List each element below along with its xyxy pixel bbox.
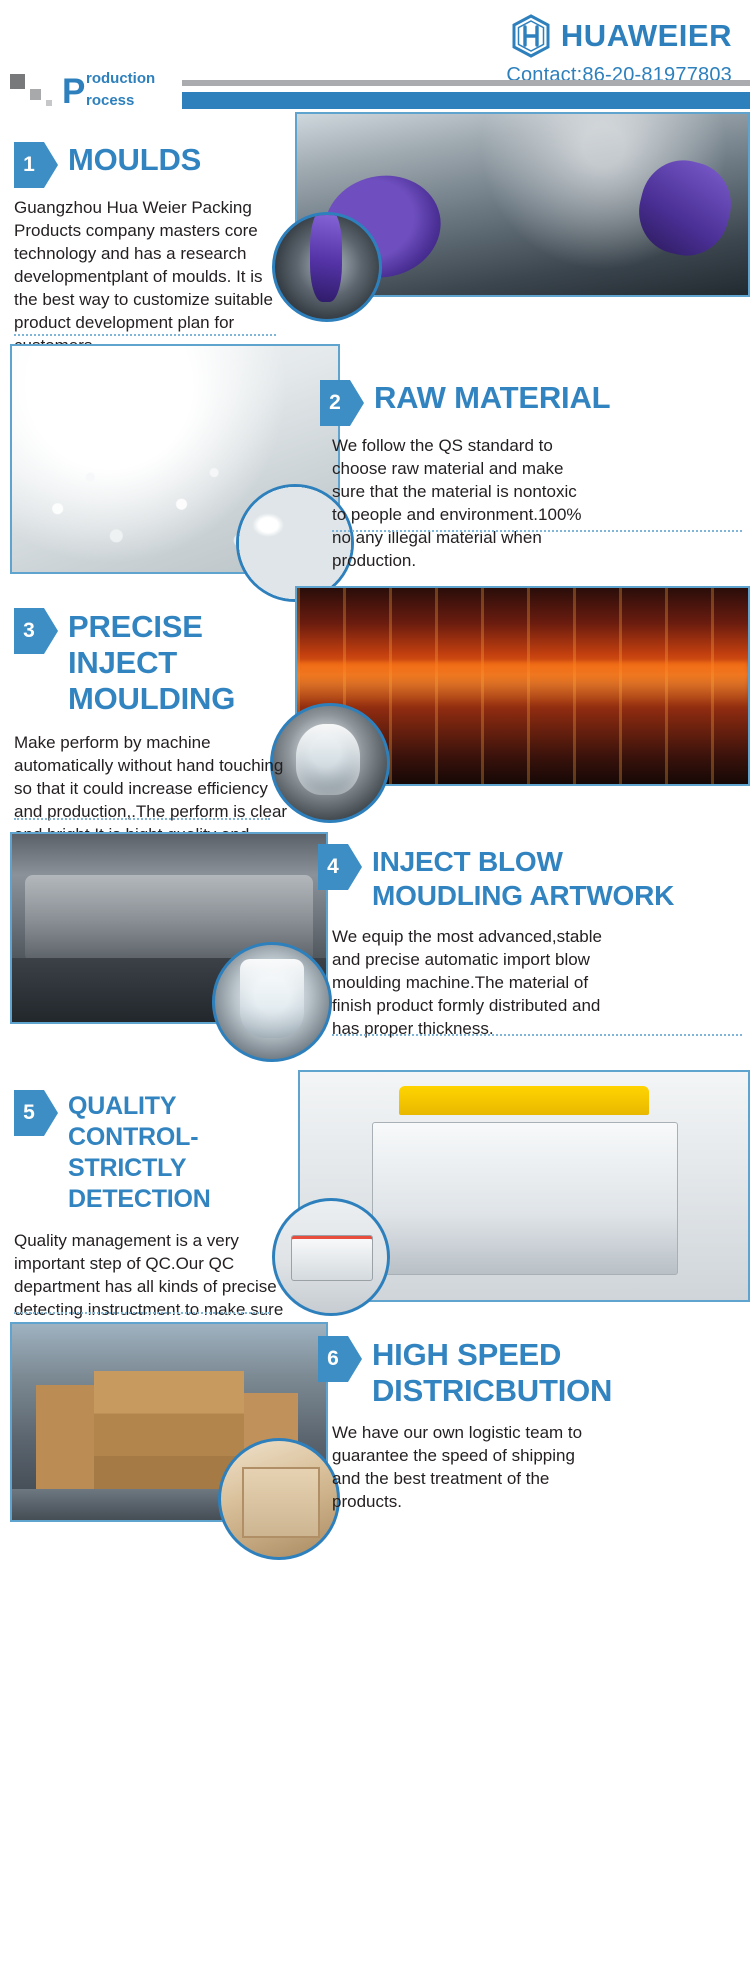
step-row-5: 5 QUALITY CONTROL- STRICTLY DETECTION Qu…: [0, 1070, 750, 1320]
step-6-title: HIGH SPEED DISTRICBUTION: [372, 1336, 612, 1409]
decor-square-medium-icon: [30, 89, 41, 100]
step-1-text: 1 MOULDS Guangzhou Hua Weier Packing Pro…: [14, 142, 286, 357]
step-4-body: We equip the most advanced,stable and pr…: [332, 925, 612, 1040]
label-initial-p: P: [62, 73, 85, 111]
step-4-heading: 4 INJECT BLOW MOUDLING ARTWORK: [318, 844, 748, 913]
step-2-heading: 2 RAW MATERIAL: [320, 380, 740, 426]
step-5-divider: [14, 1312, 270, 1314]
step-1-body: Guangzhou Hua Weier Packing Products com…: [14, 196, 286, 357]
step-5-text: 5 QUALITY CONTROL- STRICTLY DETECTION Qu…: [14, 1090, 294, 1344]
production-process-label: P roduction rocess: [62, 68, 192, 116]
step-1-number-arrow: 1: [14, 142, 58, 188]
step-row-4: 4 INJECT BLOW MOUDLING ARTWORK We equip …: [0, 832, 750, 1072]
step-6-number: 6: [318, 1336, 348, 1382]
decor-square-large-icon: [10, 74, 25, 89]
step-1-bubble: [272, 212, 382, 322]
production-process-infographic: HUAWEIER Contact:86-20-81977803 P roduct…: [0, 0, 750, 1965]
step-6-text: 6 HIGH SPEED DISTRICBUTION We have our o…: [318, 1336, 748, 1513]
step-5-number: 5: [14, 1090, 44, 1136]
step-3-number: 3: [14, 608, 44, 654]
label-word-production: roduction: [86, 70, 155, 87]
step-3-title: PRECISE INJECT MOULDING: [68, 608, 290, 717]
step-2-body: We follow the QS standard to choose raw …: [332, 434, 594, 572]
step-2-text: 2 RAW MATERIAL We follow the QS standard…: [320, 380, 740, 572]
brand-name: HUAWEIER: [561, 18, 732, 54]
step-5-title: QUALITY CONTROL- STRICTLY DETECTION: [68, 1090, 294, 1215]
step-1-title: MOULDS: [68, 142, 201, 178]
step-row-6: 6 HIGH SPEED DISTRICBUTION We have our o…: [0, 1322, 750, 1572]
step-2-title: RAW MATERIAL: [374, 380, 610, 416]
section-title-bar: P roduction rocess: [0, 68, 750, 116]
step-3-heading: 3 PRECISE INJECT MOULDING: [14, 608, 290, 717]
step-5-heading: 5 QUALITY CONTROL- STRICTLY DETECTION: [14, 1090, 294, 1215]
step-row-2: 2 RAW MATERIAL We follow the QS standard…: [0, 344, 750, 584]
step-6-body: We have our own logistic team to guarant…: [332, 1421, 604, 1513]
step-4-number-arrow: 4: [318, 844, 362, 890]
step-3-number-arrow: 3: [14, 608, 58, 654]
step-row-1: 1 MOULDS Guangzhou Hua Weier Packing Pro…: [0, 112, 750, 342]
step-1-number: 1: [14, 142, 44, 188]
step-4-title: INJECT BLOW MOUDLING ARTWORK: [372, 844, 674, 913]
step-5-number-arrow: 5: [14, 1090, 58, 1136]
hexagon-h-logo-icon: [511, 14, 551, 58]
step-2-divider: [332, 530, 742, 532]
step-4-text: 4 INJECT BLOW MOUDLING ARTWORK We equip …: [318, 844, 748, 1040]
step-3-divider: [14, 818, 270, 820]
step-4-divider: [332, 1034, 742, 1036]
step-2-number: 2: [320, 380, 350, 426]
decor-square-small-icon: [46, 100, 52, 106]
label-word-process: rocess: [86, 92, 134, 109]
step-1-heading: 1 MOULDS: [14, 142, 286, 188]
brand-lockup: HUAWEIER: [511, 14, 732, 58]
step-row-3: 3 PRECISE INJECT MOULDING Make perform b…: [0, 586, 750, 831]
step-4-number: 4: [318, 844, 348, 890]
header-rule-grey: [182, 80, 750, 86]
step-4-bubble: [212, 942, 332, 1062]
step-3-text: 3 PRECISE INJECT MOULDING Make perform b…: [14, 608, 290, 869]
step-1-divider: [14, 334, 276, 336]
step-2-number-arrow: 2: [320, 380, 364, 426]
header-rule-blue: [182, 92, 750, 109]
step-6-heading: 6 HIGH SPEED DISTRICBUTION: [318, 1336, 748, 1409]
step-6-number-arrow: 6: [318, 1336, 362, 1382]
